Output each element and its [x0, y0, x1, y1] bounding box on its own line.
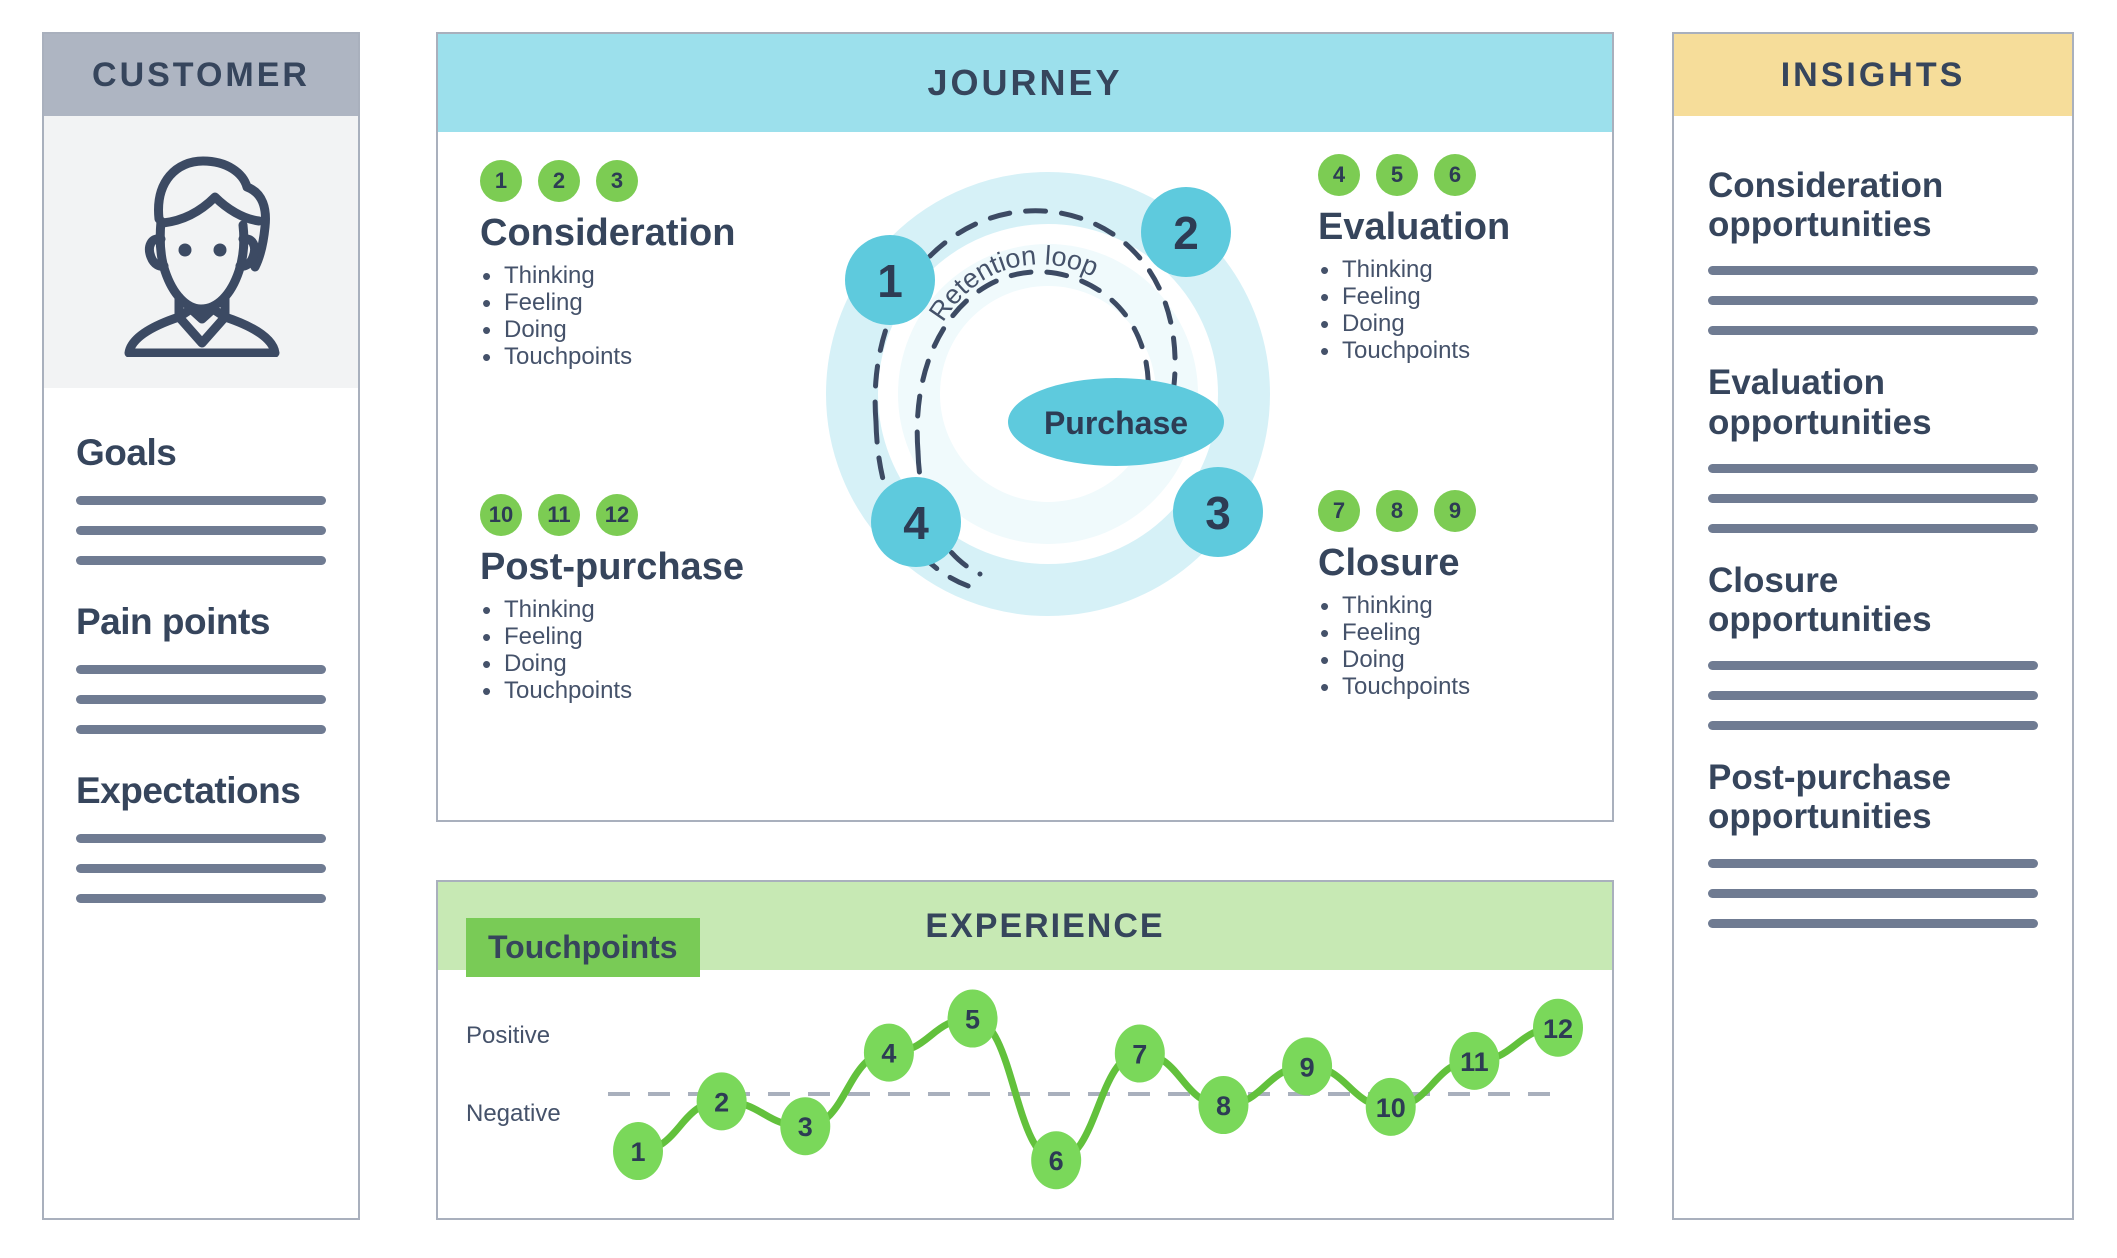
journey-stage-evaluation: 4 5 6 Evaluation Thinking Feeling Doing …	[1318, 154, 1648, 365]
stage-item-list: Thinking Feeling Doing Touchpoints	[480, 597, 810, 705]
journey-panel: JOURNEY Retention loop	[436, 32, 1614, 822]
experience-trend-line	[638, 1019, 1558, 1161]
stage-item: Thinking	[1318, 257, 1648, 284]
journey-node-2[interactable]: 2	[1141, 187, 1231, 277]
journey-node-3[interactable]: 3	[1173, 467, 1263, 557]
stage-title: Closure	[1318, 542, 1648, 585]
experience-point-label: 7	[1132, 1040, 1147, 1070]
experience-point[interactable]: 1	[613, 1122, 663, 1180]
stage-badge[interactable]: 10	[480, 494, 522, 536]
stage-item: Touchpoints	[480, 344, 810, 371]
experience-point[interactable]: 12	[1533, 999, 1583, 1057]
section-title: Goals	[76, 432, 326, 474]
placeholder-line	[76, 894, 326, 903]
insight-title: Post-purchase opportunities	[1708, 758, 2038, 836]
section-title: Pain points	[76, 601, 326, 643]
experience-point-label: 6	[1049, 1146, 1064, 1176]
placeholder-line	[1708, 859, 2038, 868]
customer-journey-map: CUSTOMER Goals	[0, 0, 2117, 1258]
placeholder-lines	[76, 834, 326, 903]
stage-badge[interactable]: 4	[1318, 154, 1360, 196]
stage-badge[interactable]: 6	[1434, 154, 1476, 196]
customer-section-expectations: Expectations	[44, 770, 358, 903]
experience-point-label: 9	[1300, 1052, 1315, 1082]
experience-point-label: 1	[630, 1137, 645, 1167]
insight-block-consideration: Consideration opportunities	[1674, 166, 2072, 335]
experience-title: EXPERIENCE	[925, 907, 1164, 946]
stage-item: Doing	[1318, 311, 1648, 338]
placeholder-line	[76, 864, 326, 873]
customer-section-goals: Goals	[44, 432, 358, 565]
experience-point[interactable]: 6	[1031, 1131, 1081, 1189]
stage-badge[interactable]: 1	[480, 160, 522, 202]
stage-title: Consideration	[480, 212, 810, 255]
svg-text:3: 3	[1205, 487, 1231, 539]
stage-item: Thinking	[480, 597, 810, 624]
placeholder-lines	[76, 665, 326, 734]
person-avatar-icon	[103, 147, 299, 357]
placeholder-line	[1708, 524, 2038, 533]
stage-item: Touchpoints	[480, 678, 810, 705]
stage-item: Doing	[480, 651, 810, 678]
placeholder-lines	[76, 496, 326, 565]
customer-panel: CUSTOMER Goals	[42, 32, 360, 1220]
experience-point-label: 2	[714, 1087, 729, 1117]
purchase-label: Purchase	[1044, 405, 1188, 441]
journey-node-4[interactable]: 4	[871, 477, 961, 567]
journey-stage-post-purchase: 10 11 12 Post-purchase Thinking Feeling …	[480, 494, 810, 705]
experience-point[interactable]: 8	[1198, 1076, 1248, 1134]
placeholder-line	[1708, 296, 2038, 305]
experience-point-label: 12	[1543, 1014, 1573, 1044]
stage-item: Thinking	[480, 263, 810, 290]
experience-panel: EXPERIENCE Touchpoints Positive Negative…	[436, 880, 1614, 1220]
stage-badge[interactable]: 7	[1318, 490, 1360, 532]
placeholder-line	[76, 725, 326, 734]
section-title: Expectations	[76, 770, 326, 812]
placeholder-line	[76, 695, 326, 704]
placeholder-lines	[1708, 464, 2038, 533]
placeholder-line	[76, 834, 326, 843]
experience-point-label: 8	[1216, 1091, 1231, 1121]
placeholder-lines	[1708, 661, 2038, 730]
placeholder-line	[1708, 494, 2038, 503]
experience-panel-header: EXPERIENCE Touchpoints	[438, 882, 1612, 970]
placeholder-line	[1708, 889, 2038, 898]
customer-section-pain-points: Pain points	[44, 601, 358, 734]
journey-stage-consideration: 1 2 3 Consideration Thinking Feeling Doi…	[480, 160, 810, 371]
insight-title: Evaluation opportunities	[1708, 363, 2038, 441]
experience-point-label: 4	[881, 1039, 896, 1069]
experience-chart: Positive Negative 123456789101112	[438, 970, 1612, 1218]
experience-point[interactable]: 7	[1115, 1025, 1165, 1083]
journey-stage-closure: 7 8 9 Closure Thinking Feeling Doing Tou…	[1318, 490, 1648, 701]
experience-point-label: 5	[965, 1005, 980, 1035]
stage-badge[interactable]: 12	[596, 494, 638, 536]
insight-block-post-purchase: Post-purchase opportunities	[1674, 758, 2072, 927]
placeholder-line	[1708, 661, 2038, 670]
insight-title: Consideration opportunities	[1708, 166, 2038, 244]
stage-title: Post-purchase	[480, 546, 810, 589]
insights-panel: INSIGHTS Consideration opportunities Eva…	[1672, 32, 2074, 1220]
experience-point[interactable]: 10	[1366, 1078, 1416, 1136]
journey-cycle-diagram: Retention loop Purchase 1 2 3	[768, 122, 1328, 682]
stage-item: Doing	[1318, 647, 1648, 674]
stage-badges: 4 5 6	[1318, 154, 1648, 196]
placeholder-line	[76, 665, 326, 674]
placeholder-line	[1708, 266, 2038, 275]
stage-item: Feeling	[480, 290, 810, 317]
stage-title: Evaluation	[1318, 206, 1648, 249]
experience-point[interactable]: 9	[1282, 1037, 1332, 1095]
stage-item: Touchpoints	[1318, 674, 1648, 701]
stage-badge[interactable]: 3	[596, 160, 638, 202]
stage-item: Touchpoints	[1318, 338, 1648, 365]
placeholder-line	[76, 556, 326, 565]
customer-panel-header: CUSTOMER	[44, 34, 358, 116]
experience-point[interactable]: 4	[864, 1024, 914, 1082]
experience-point[interactable]: 3	[780, 1097, 830, 1155]
stage-badges: 10 11 12	[480, 494, 810, 536]
insight-block-closure: Closure opportunities	[1674, 561, 2072, 730]
placeholder-line	[1708, 919, 2038, 928]
experience-data-points: 123456789101112	[613, 990, 1583, 1190]
svg-text:1: 1	[877, 255, 903, 307]
stage-item: Doing	[480, 317, 810, 344]
journey-node-1[interactable]: 1	[845, 235, 935, 325]
stage-item-list: Thinking Feeling Doing Touchpoints	[1318, 593, 1648, 701]
placeholder-line	[1708, 721, 2038, 730]
journey-panel-header: JOURNEY	[438, 34, 1612, 132]
insights-panel-header: INSIGHTS	[1674, 34, 2072, 116]
stage-badge[interactable]: 8	[1376, 490, 1418, 532]
stage-item: Feeling	[1318, 284, 1648, 311]
svg-text:4: 4	[903, 497, 929, 549]
placeholder-line	[1708, 464, 2038, 473]
journey-body: Retention loop Purchase 1 2 3	[438, 132, 1612, 822]
stage-badge[interactable]: 5	[1376, 154, 1418, 196]
svg-text:2: 2	[1173, 207, 1199, 259]
touchpoints-chip[interactable]: Touchpoints	[466, 918, 700, 977]
stage-badges: 7 8 9	[1318, 490, 1648, 532]
stage-badge[interactable]: 11	[538, 494, 580, 536]
stage-item: Feeling	[480, 624, 810, 651]
stage-item: Feeling	[1318, 620, 1648, 647]
avatar	[44, 116, 358, 390]
experience-line-chart: 123456789101112	[438, 970, 1612, 1218]
experience-point[interactable]: 11	[1449, 1032, 1499, 1090]
placeholder-line	[1708, 326, 2038, 335]
placeholder-line	[76, 526, 326, 535]
insight-block-evaluation: Evaluation opportunities	[1674, 363, 2072, 532]
stage-badge[interactable]: 9	[1434, 490, 1476, 532]
placeholder-line	[1708, 691, 2038, 700]
experience-point[interactable]: 5	[948, 990, 998, 1048]
stage-item-list: Thinking Feeling Doing Touchpoints	[1318, 257, 1648, 365]
experience-point-label: 11	[1460, 1047, 1489, 1077]
stage-badge[interactable]: 2	[538, 160, 580, 202]
experience-point-label: 10	[1376, 1093, 1406, 1123]
experience-point-label: 3	[798, 1112, 813, 1142]
placeholder-line	[76, 496, 326, 505]
placeholder-lines	[1708, 266, 2038, 335]
insight-title: Closure opportunities	[1708, 561, 2038, 639]
stage-badges: 1 2 3	[480, 160, 810, 202]
stage-item-list: Thinking Feeling Doing Touchpoints	[480, 263, 810, 371]
placeholder-lines	[1708, 859, 2038, 928]
stage-item: Thinking	[1318, 593, 1648, 620]
experience-point[interactable]: 2	[697, 1072, 747, 1130]
